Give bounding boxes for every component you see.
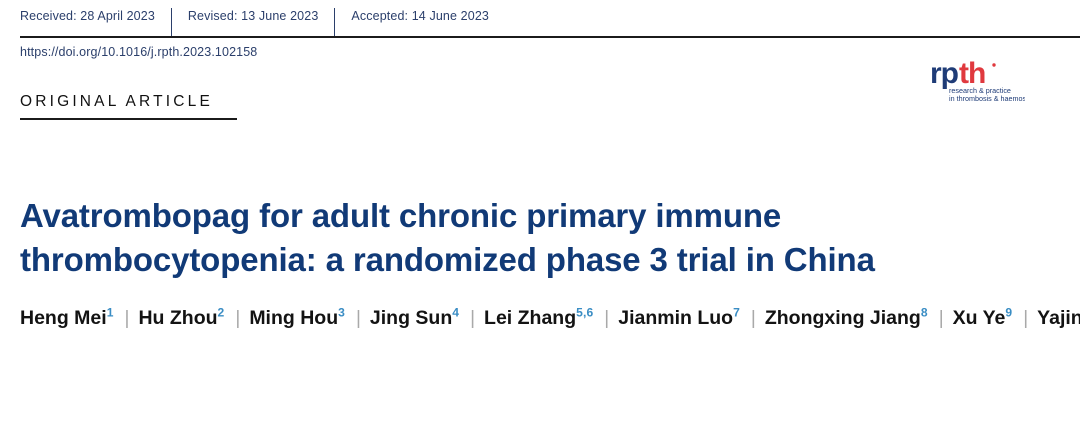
history-accepted: Accepted: 14 June 2023 [351, 8, 505, 24]
article-type-rule [20, 118, 237, 120]
author-separator: | [459, 308, 484, 329]
author-label: Jianmin Luo [618, 307, 733, 329]
author-name[interactable]: Ming Hou3 [249, 307, 345, 329]
page-title: Avatrombopag for adult chronic primary i… [20, 194, 920, 282]
author-label: Hu Zhou [138, 307, 217, 329]
author-label: Heng Mei [20, 307, 107, 329]
author-name[interactable]: Jianmin Luo7 [618, 307, 740, 329]
author-affiliation-marker[interactable]: 1 [107, 306, 114, 320]
author-list: Heng Mei1|Hu Zhou2|Ming Hou3|Jing Sun4|L… [20, 300, 1060, 337]
author-separator: | [1012, 308, 1037, 329]
author-separator: | [345, 308, 370, 329]
author-separator: | [224, 308, 249, 329]
article-history-bar: Received: 28 April 2023 Revised: 13 June… [20, 8, 1060, 36]
author-label: Ming Hou [249, 307, 338, 329]
author-affiliation-marker[interactable]: 3 [338, 306, 345, 320]
history-divider [334, 8, 335, 36]
history-divider [171, 8, 172, 36]
author-name[interactable]: Heng Mei1 [20, 307, 114, 329]
author-label: Lei Zhang [484, 307, 576, 329]
history-received: Received: 28 April 2023 [20, 8, 171, 24]
author-separator: | [928, 308, 953, 329]
article-type: ORIGINAL ARTICLE [20, 92, 237, 120]
author-separator: | [593, 308, 618, 329]
history-revised: Revised: 13 June 2023 [188, 8, 335, 24]
author-separator: | [114, 308, 139, 329]
journal-logo: rp th research & practice in thrombosis … [930, 56, 1025, 106]
author-name[interactable]: Jing Sun4 [370, 307, 459, 329]
header-rule [20, 36, 1080, 38]
author-label: Zhongxing Jiang [765, 307, 921, 329]
svg-text:in thrombosis & haemostasis: in thrombosis & haemostasis [949, 94, 1025, 103]
author-name[interactable]: Lei Zhang5,6 [484, 307, 593, 329]
author-affiliation-marker[interactable]: 7 [733, 306, 740, 320]
author-name[interactable]: Yajing Xu10 [1037, 307, 1080, 329]
rpth-logo-icon: rp th research & practice in thrombosis … [930, 56, 1025, 106]
author-name[interactable]: Zhongxing Jiang8 [765, 307, 928, 329]
author-affiliation-marker[interactable]: 8 [921, 306, 928, 320]
doi-link[interactable]: https://doi.org/10.1016/j.rpth.2023.1021… [20, 44, 257, 60]
author-affiliation-marker[interactable]: 5,6 [576, 306, 593, 320]
author-name[interactable]: Xu Ye9 [953, 307, 1013, 329]
author-label: Xu Ye [953, 307, 1006, 329]
author-label: Yajing Xu [1037, 307, 1080, 329]
author-name[interactable]: Hu Zhou2 [138, 307, 224, 329]
author-separator: | [740, 308, 765, 329]
article-type-label: ORIGINAL ARTICLE [20, 92, 237, 112]
author-label: Jing Sun [370, 307, 452, 329]
registered-dot-icon [992, 63, 995, 66]
